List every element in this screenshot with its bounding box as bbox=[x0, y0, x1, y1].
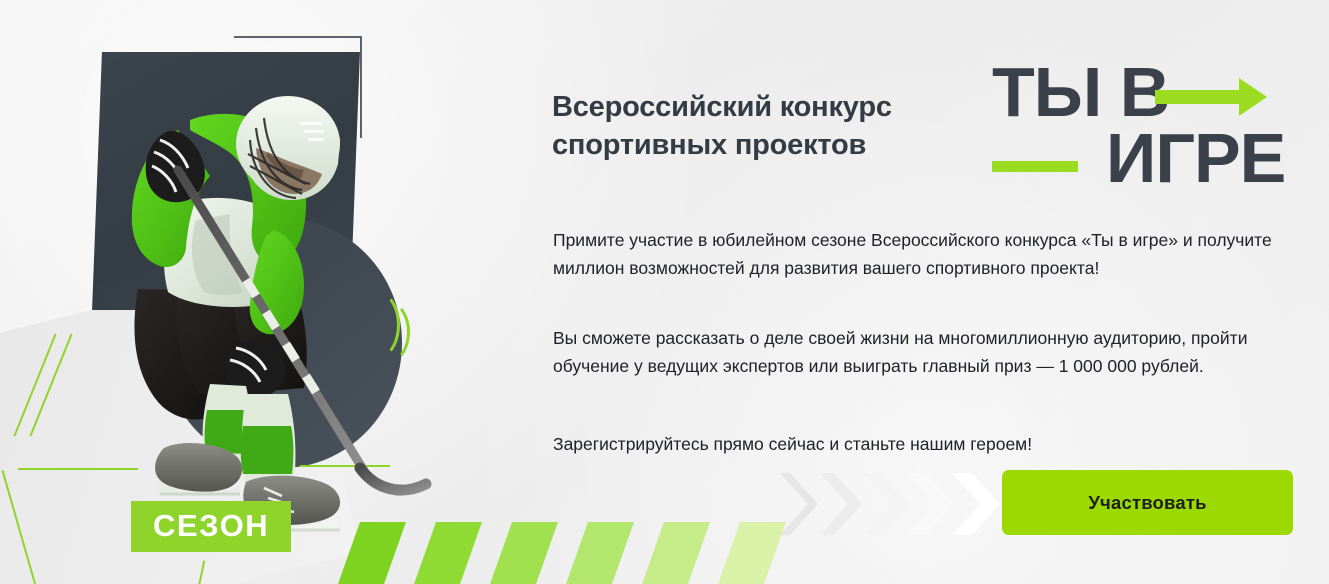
page-title: Всероссийский конкурс спортивных проекто… bbox=[552, 88, 1002, 165]
participate-button[interactable]: Участвовать bbox=[1002, 470, 1293, 535]
content-column: Всероссийский конкурс спортивных проекто… bbox=[552, 0, 1329, 584]
logo-row-bottom: ИГРЕ bbox=[992, 123, 1285, 193]
brand-logo: ТЫ В ИГРЕ bbox=[992, 57, 1322, 187]
headline-line-1: Всероссийский конкурс bbox=[552, 91, 892, 123]
dash-icon bbox=[992, 161, 1078, 172]
promo-banner: СЕЗОН Всероссийский конкурс спортивных п… bbox=[0, 0, 1329, 584]
arrow-right-icon bbox=[1155, 76, 1267, 118]
logo-text-igre: ИГРЕ bbox=[1106, 123, 1285, 193]
logo-text-ty-v: ТЫ В bbox=[992, 57, 1169, 127]
hero-artwork: СЕЗОН bbox=[0, 0, 540, 584]
body-paragraph-2: Вы сможете рассказать о деле своей жизни… bbox=[553, 324, 1275, 381]
body-paragraph-1: Примите участие в юбилейном сезоне Всеро… bbox=[553, 226, 1275, 283]
season-badge: СЕЗОН bbox=[131, 501, 291, 552]
body-paragraph-3: Зарегистрируйтесь прямо сейчас и станьте… bbox=[553, 430, 1275, 458]
logo-row-top: ТЫ В bbox=[992, 57, 1169, 127]
headline-line-2: спортивных проектов bbox=[552, 129, 866, 161]
hockey-player-illustration bbox=[60, 44, 460, 544]
